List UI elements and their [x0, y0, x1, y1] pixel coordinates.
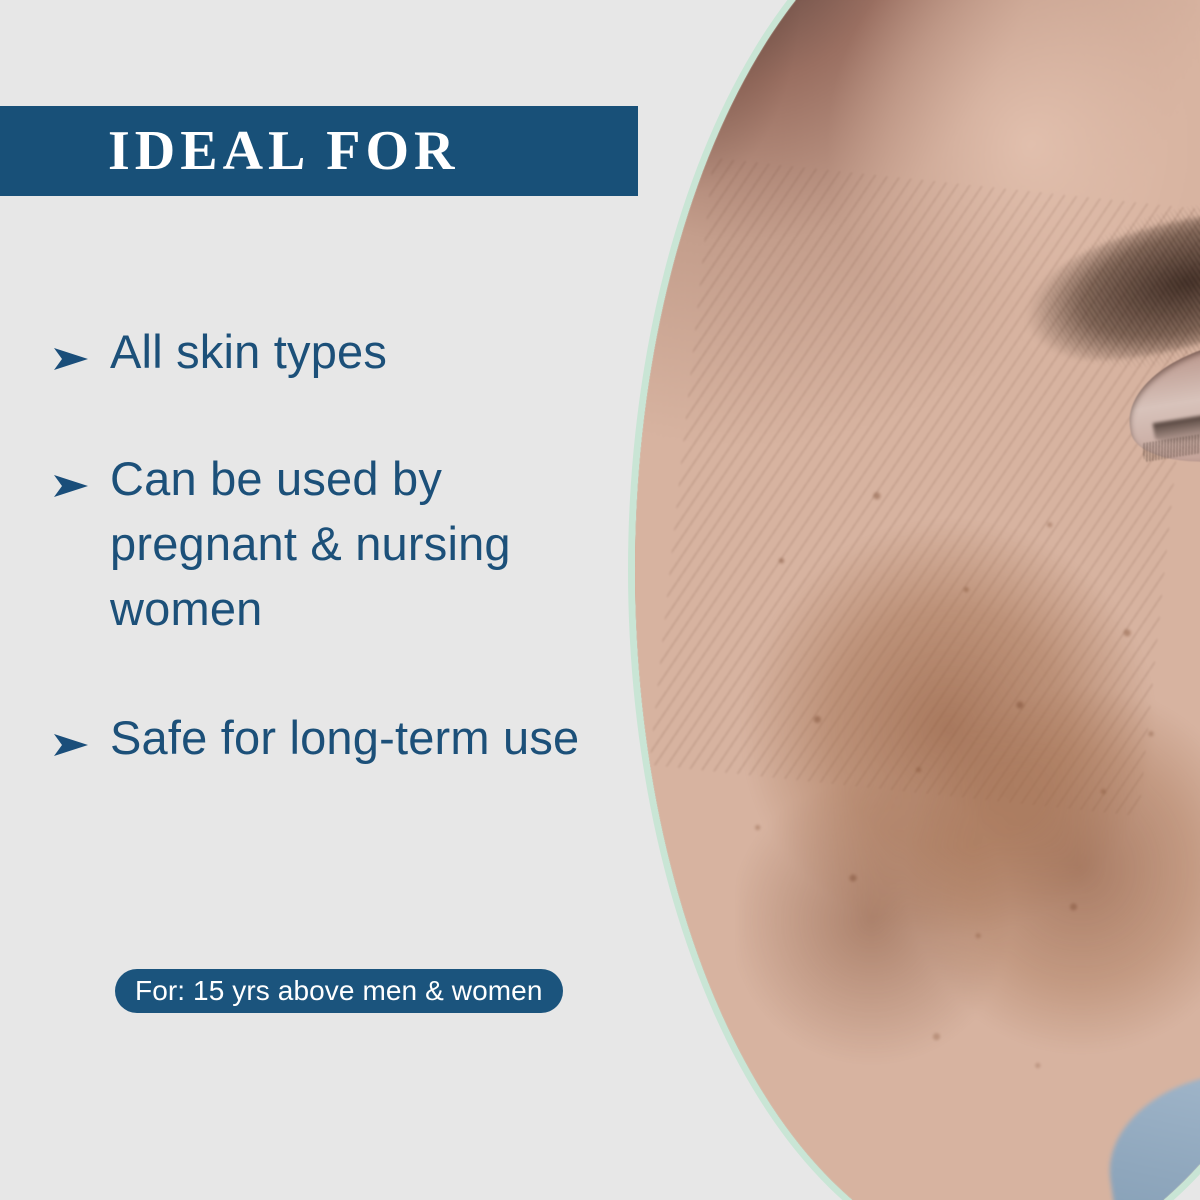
dark-spot-speckles — [710, 431, 1200, 1152]
arrowhead-bullet-icon — [48, 336, 94, 382]
arrowhead-bullet-icon — [48, 463, 94, 509]
list-item-label: Safe for long-term use — [110, 706, 579, 769]
audience-badge-label: For: 15 yrs above men & women — [135, 975, 543, 1007]
ideal-for-infographic: IDEAL FOR All skin types Can be used by … — [0, 0, 1200, 1200]
list-item: All skin types — [48, 320, 708, 383]
benefits-list: All skin types Can be used by pregnant &… — [48, 320, 708, 769]
list-item-label: Can be used by pregnant & nursing women — [110, 447, 530, 642]
arrowhead-bullet-icon — [48, 722, 94, 768]
photo-inner — [635, 0, 1200, 1200]
page-title: IDEAL FOR — [108, 123, 460, 179]
header-banner: IDEAL FOR — [0, 106, 638, 196]
list-item: Can be used by pregnant & nursing women — [48, 447, 708, 642]
list-item: Safe for long-term use — [48, 706, 708, 769]
list-item-label: All skin types — [110, 320, 387, 383]
audience-badge: For: 15 yrs above men & women — [115, 969, 563, 1013]
face-closeup-photo — [628, 0, 1200, 1200]
